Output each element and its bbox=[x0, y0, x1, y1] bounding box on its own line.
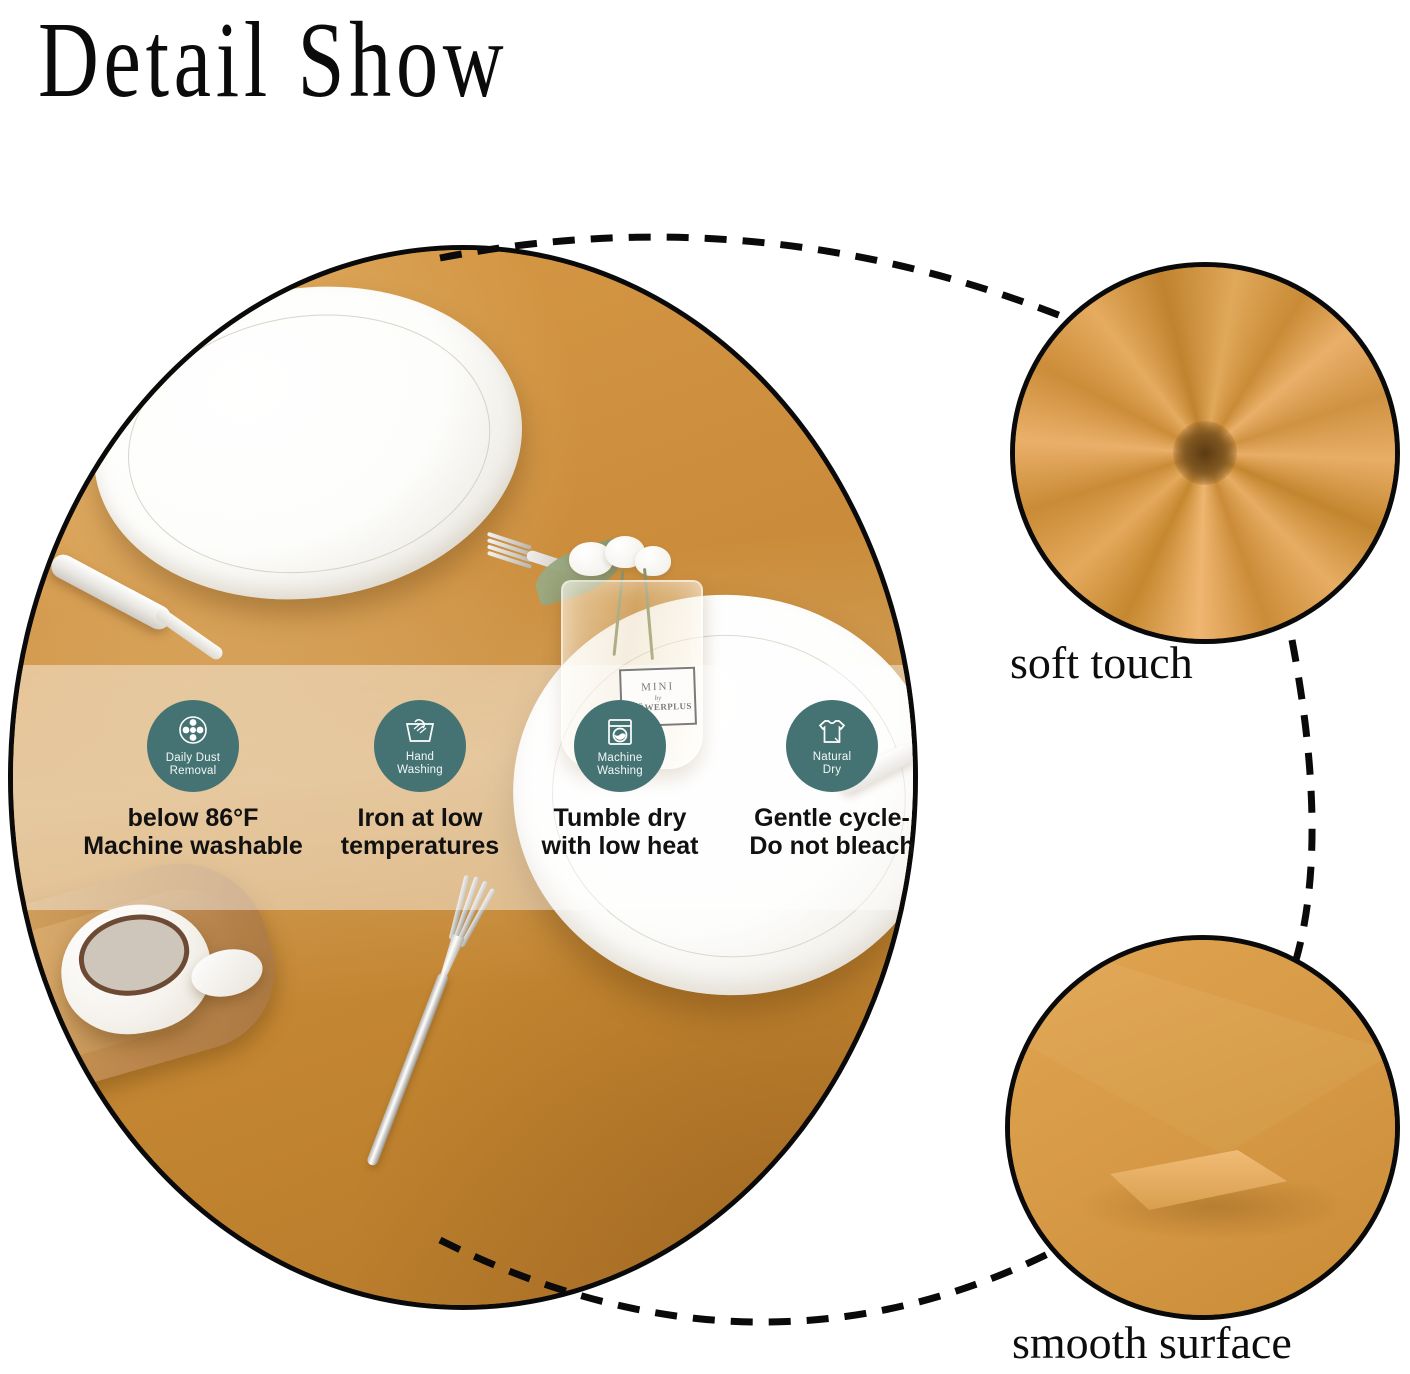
swirled-fabric-detail bbox=[1010, 262, 1400, 644]
care-label-line2: Do not bleach bbox=[712, 832, 952, 860]
badge-caption: Natural Dry bbox=[813, 751, 851, 777]
care-item-machine-washing: Machine Washing Tumble dry with low heat bbox=[500, 700, 740, 860]
badge-caption: Hand Washing bbox=[397, 751, 443, 777]
care-label-line2: with low heat bbox=[500, 832, 740, 860]
badge-line2: Removal bbox=[166, 765, 220, 778]
caption-soft-touch: soft touch bbox=[1010, 636, 1193, 689]
care-label-line1: Gentle cycle- bbox=[712, 804, 952, 832]
folded-fabric-detail bbox=[1005, 935, 1400, 1320]
care-label: below 86°F Machine washable bbox=[68, 804, 318, 860]
badge-line2: Washing bbox=[397, 764, 443, 777]
badge-line2: Washing bbox=[597, 765, 643, 778]
care-label-line1: Tumble dry bbox=[500, 804, 740, 832]
caption-smooth-surface: smooth surface bbox=[1012, 1316, 1292, 1369]
daily-dust-removal-icon: Daily Dust Removal bbox=[147, 700, 239, 792]
badge-line1: Hand bbox=[397, 751, 443, 764]
hand-washing-icon: Hand Washing bbox=[374, 700, 466, 792]
page-title: Detail Show bbox=[38, 4, 508, 117]
badge-caption: Machine Washing bbox=[597, 752, 643, 778]
machine-washing-icon: Machine Washing bbox=[574, 700, 666, 792]
care-label-line2: Machine washable bbox=[68, 832, 318, 860]
badge-line1: Natural bbox=[813, 751, 851, 764]
natural-dry-icon: Natural Dry bbox=[786, 700, 878, 792]
badge-line2: Dry bbox=[813, 764, 851, 777]
swirl-center bbox=[1173, 421, 1237, 485]
white-flower bbox=[635, 546, 671, 576]
dashed-arc-right bbox=[1292, 640, 1312, 960]
care-label-line1: below 86°F bbox=[68, 804, 318, 832]
badge-line1: Machine bbox=[597, 752, 643, 765]
care-item-natural-dry: Natural Dry Gentle cycle- Do not bleach bbox=[712, 700, 952, 860]
badge-caption: Daily Dust Removal bbox=[166, 752, 220, 778]
care-label: Tumble dry with low heat bbox=[500, 804, 740, 860]
badge-line1: Daily Dust bbox=[166, 752, 220, 765]
care-label: Gentle cycle- Do not bleach bbox=[712, 804, 952, 860]
care-item-daily-dust-removal: Daily Dust Removal below 86°F Machine wa… bbox=[68, 700, 318, 860]
